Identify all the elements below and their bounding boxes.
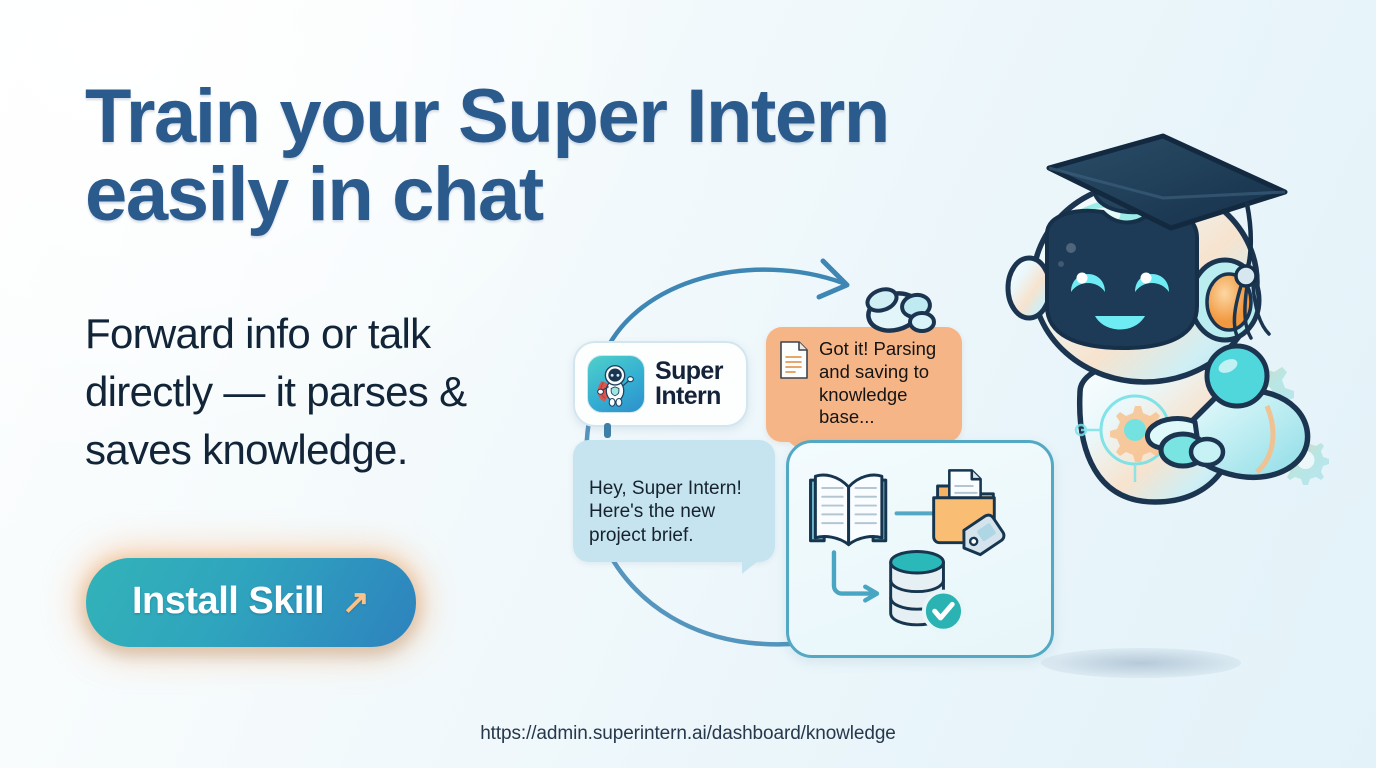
open-book-icon xyxy=(811,475,886,545)
super-intern-name-label: Super Intern xyxy=(655,359,723,410)
page-title: Train your Super Intern easily in chat xyxy=(85,78,1025,235)
book-to-database-arrow xyxy=(834,552,877,600)
promo-banner: Train your Super Intern easily in chat F… xyxy=(0,0,1376,768)
bot-message-bubble: Got it! Parsing and saving to knowledge … xyxy=(766,327,962,442)
user-message-text: Hey, Super Intern! Here's the new projec… xyxy=(589,478,742,546)
user-message-bubble: Hey, Super Intern! Here's the new projec… xyxy=(573,440,775,562)
robot-ground-shadow xyxy=(1041,648,1241,678)
super-intern-name-card[interactable]: Super Intern xyxy=(573,341,748,427)
hero-subheading: Forward info or talk directly — it parse… xyxy=(85,305,585,479)
document-icon xyxy=(778,340,810,380)
hero-copy: Train your Super Intern easily in chat xyxy=(85,78,1025,235)
robot-hand-icon xyxy=(860,278,946,340)
cta-container: Install Skill ↗ xyxy=(86,558,416,647)
install-skill-label: Install Skill xyxy=(132,580,324,623)
super-intern-robot xyxy=(985,130,1330,550)
database-check-icon xyxy=(891,552,963,631)
super-intern-robot-avatar xyxy=(587,355,645,413)
page-url: https://admin.superintern.ai/dashboard/k… xyxy=(0,723,1376,745)
external-link-arrow-icon: ↗ xyxy=(342,585,370,618)
install-skill-button[interactable]: Install Skill ↗ xyxy=(86,558,416,647)
bot-message-text: Got it! Parsing and saving to knowledge … xyxy=(819,338,948,429)
